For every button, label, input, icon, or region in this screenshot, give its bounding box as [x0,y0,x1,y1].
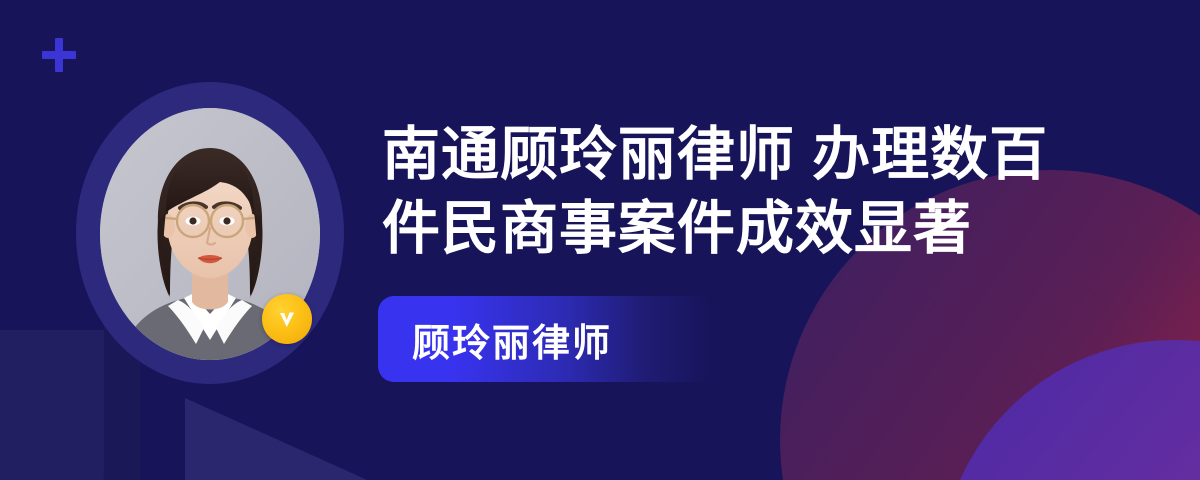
headline-block: 南通顾玲丽律师 办理数百 件民商事案件成效显著 [382,118,1122,266]
lawyer-name-chip[interactable]: 顾玲丽律师 [378,296,714,382]
headline-line-2: 件民商事案件成效显著 [382,192,1122,266]
lawyer-promo-banner: 南通顾玲丽律师 办理数百 件民商事案件成效显著 顾玲丽律师 [0,0,1200,480]
plus-icon [42,38,76,72]
verified-badge-icon [262,294,312,344]
lawyer-name-label: 顾玲丽律师 [412,312,612,367]
headline-line-1: 南通顾玲丽律师 办理数百 [382,118,1122,192]
avatar [76,82,344,384]
background-wedge-shape [185,398,385,480]
page-title: 南通顾玲丽律师 办理数百 件民商事案件成效显著 [382,118,1122,266]
